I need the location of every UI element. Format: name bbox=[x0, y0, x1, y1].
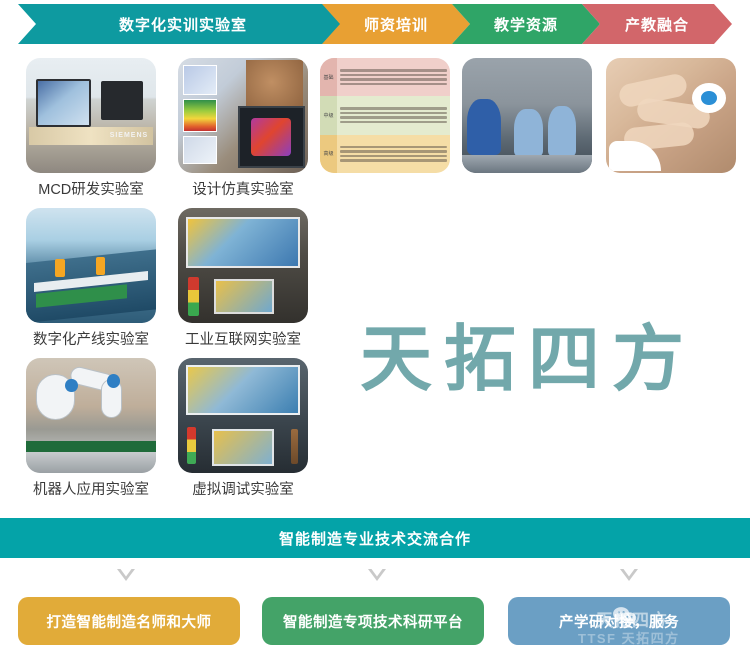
lab-card-image-8[interactable] bbox=[26, 358, 156, 473]
process-ribbon: 数字化实训实验室师资培训教学资源产教融合 bbox=[0, 0, 750, 48]
ribbon-step-4[interactable]: 产教融合 bbox=[582, 4, 732, 44]
cae-simulation-photo bbox=[178, 58, 308, 173]
lab-card-image-9[interactable] bbox=[178, 358, 308, 473]
virtual-commissioning-photo bbox=[178, 358, 308, 473]
ribbon-step-1[interactable]: 数字化实训实验室 bbox=[18, 4, 348, 44]
ribbon-step-3[interactable]: 教学资源 bbox=[452, 4, 600, 44]
chevron-down-icon-3 bbox=[618, 566, 640, 586]
chevron-down-icon-1 bbox=[115, 566, 137, 586]
watermark-subtext: TTSF 天拓四方 bbox=[578, 628, 750, 647]
brand-wordmark: 天拓四方 bbox=[360, 300, 696, 405]
lab-card-caption-1: MCD研发实验室 bbox=[16, 178, 166, 199]
lab-card-caption-8: 机器人应用实验室 bbox=[16, 478, 166, 499]
lab-card-caption-2: 设计仿真实验室 bbox=[168, 178, 318, 199]
lab-card-image-1[interactable]: SIEMENS bbox=[26, 58, 156, 173]
robot-arm-photo bbox=[26, 358, 156, 473]
lab-card-image-7[interactable] bbox=[178, 208, 308, 323]
outcome-pill-2[interactable]: 智能制造专项技术科研平台 bbox=[262, 597, 484, 645]
lab-card-image-5[interactable] bbox=[606, 58, 736, 173]
lab-card-image-4[interactable] bbox=[462, 58, 592, 173]
outcome-pill-1[interactable]: 打造智能制造名师和大师 bbox=[18, 597, 240, 645]
poster-root: 数字化实训实验室师资培训教学资源产教融合 SIEMENSMCD研发实验室设计仿真… bbox=[0, 0, 750, 655]
lab-card-image-3[interactable]: 基础中级高级 bbox=[320, 58, 450, 173]
hands-teamwork-photo bbox=[606, 58, 736, 173]
digital-production-line-photo bbox=[26, 208, 156, 323]
siemens-workstation-photo: SIEMENS bbox=[26, 58, 156, 173]
cooperation-banner: 智能制造专业技术交流合作 bbox=[0, 518, 750, 558]
ribbon-step-2[interactable]: 师资培训 bbox=[322, 4, 470, 44]
classroom-training-photo bbox=[462, 58, 592, 173]
lab-card-image-2[interactable] bbox=[178, 58, 308, 173]
industrial-iot-photo bbox=[178, 208, 308, 323]
curriculum-table-chart: 基础中级高级 bbox=[320, 58, 450, 173]
lab-card-caption-6: 数字化产线实验室 bbox=[16, 328, 166, 349]
chevron-down-icon-2 bbox=[366, 566, 388, 586]
lab-card-caption-7: 工业互联网实验室 bbox=[168, 328, 318, 349]
lab-card-image-6[interactable] bbox=[26, 208, 156, 323]
lab-card-caption-9: 虚拟调试实验室 bbox=[168, 478, 318, 499]
